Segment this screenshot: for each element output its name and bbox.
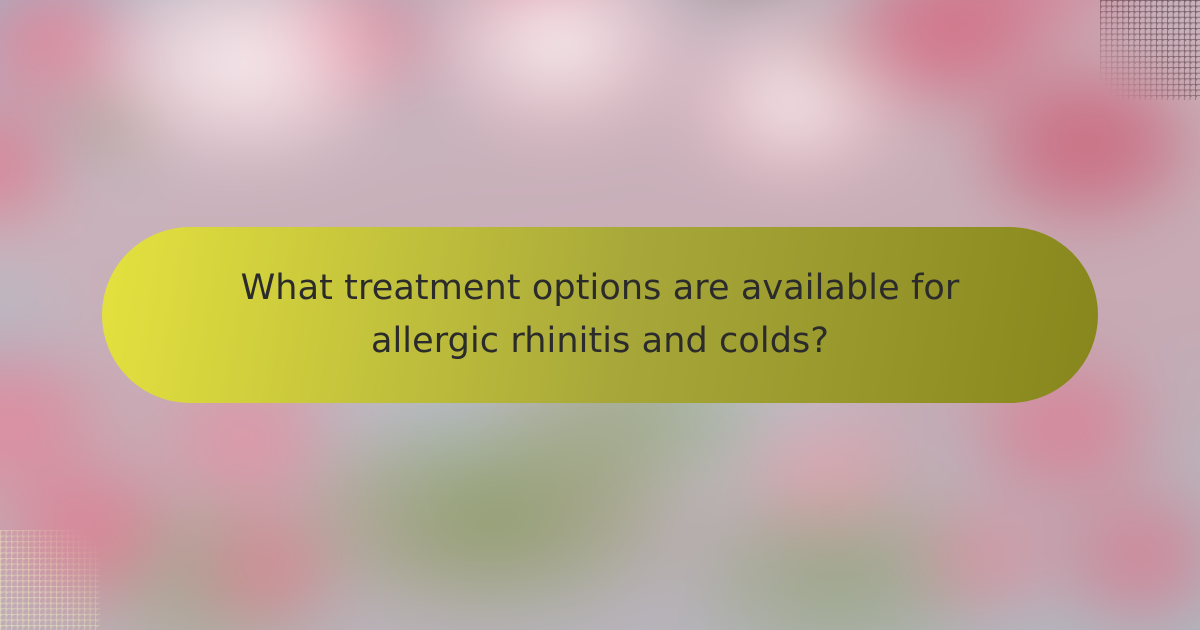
question-text: What treatment options are available for… [241,262,960,368]
halftone-texture-bottom-left-icon [0,530,100,630]
question-card: What treatment options are available for… [102,227,1098,403]
screenshot-canvas: What treatment options are available for… [0,0,1200,630]
halftone-texture-top-right-icon [1100,0,1200,100]
